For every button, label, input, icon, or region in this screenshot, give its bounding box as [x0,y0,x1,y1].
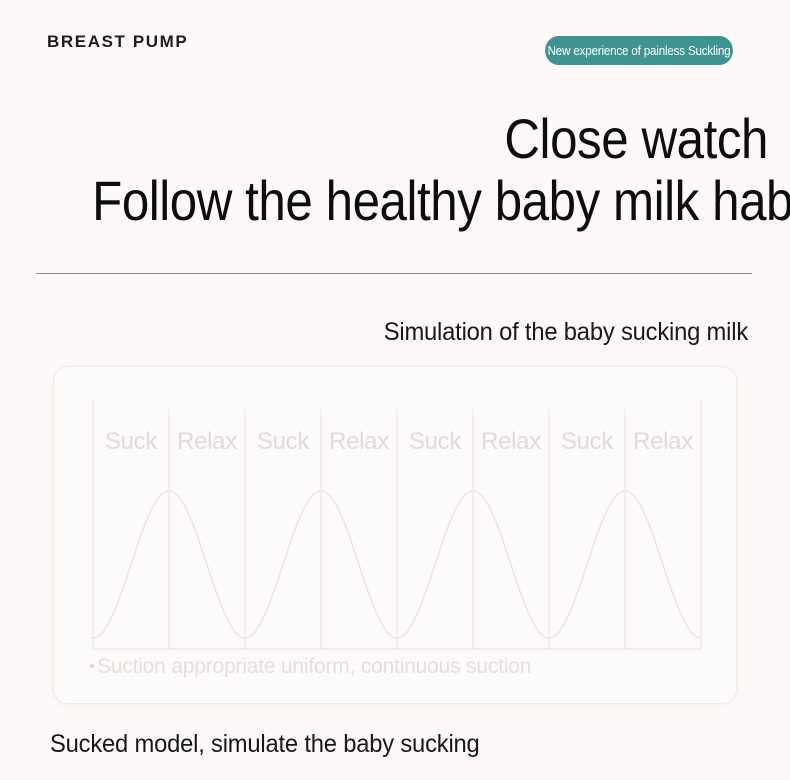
chart-inner: SuckRelaxSuckRelaxSuckRelaxSuckRelax Suc… [54,367,737,704]
segment-label: Relax [321,427,397,457]
promo-badge: New experience of painless Suckling [545,36,733,65]
segment-label: Suck [93,427,169,457]
segment-label: Suck [245,427,321,457]
segment-label: Suck [549,427,625,457]
bottom-caption: Sucked model, simulate the baby sucking [50,730,480,759]
segment-label: Suck [397,427,473,457]
suction-chart-card: SuckRelaxSuckRelaxSuckRelaxSuckRelax Suc… [53,366,737,704]
suction-waveform-chart [54,367,737,704]
segment-label: Relax [169,427,245,457]
bullet-dot-icon [90,664,94,668]
section-divider [36,273,752,274]
chart-annotation-text: Suction appropriate uniform, continuous … [97,655,531,678]
headline-line-2: Follow the healthy baby milk habit [92,170,768,232]
headline-block: Close watch Follow the healthy baby milk… [0,108,768,232]
segment-label: Relax [473,427,549,457]
page-header: BREAST PUMP New experience of painless S… [0,0,790,96]
headline-line-1: Close watch [92,108,768,170]
chart-annotation: Suction appropriate uniform, continuous … [90,655,531,679]
chart-subtitle: Simulation of the baby sucking milk [37,318,748,347]
segment-label: Relax [625,427,701,457]
brand-title: BREAST PUMP [47,32,188,52]
